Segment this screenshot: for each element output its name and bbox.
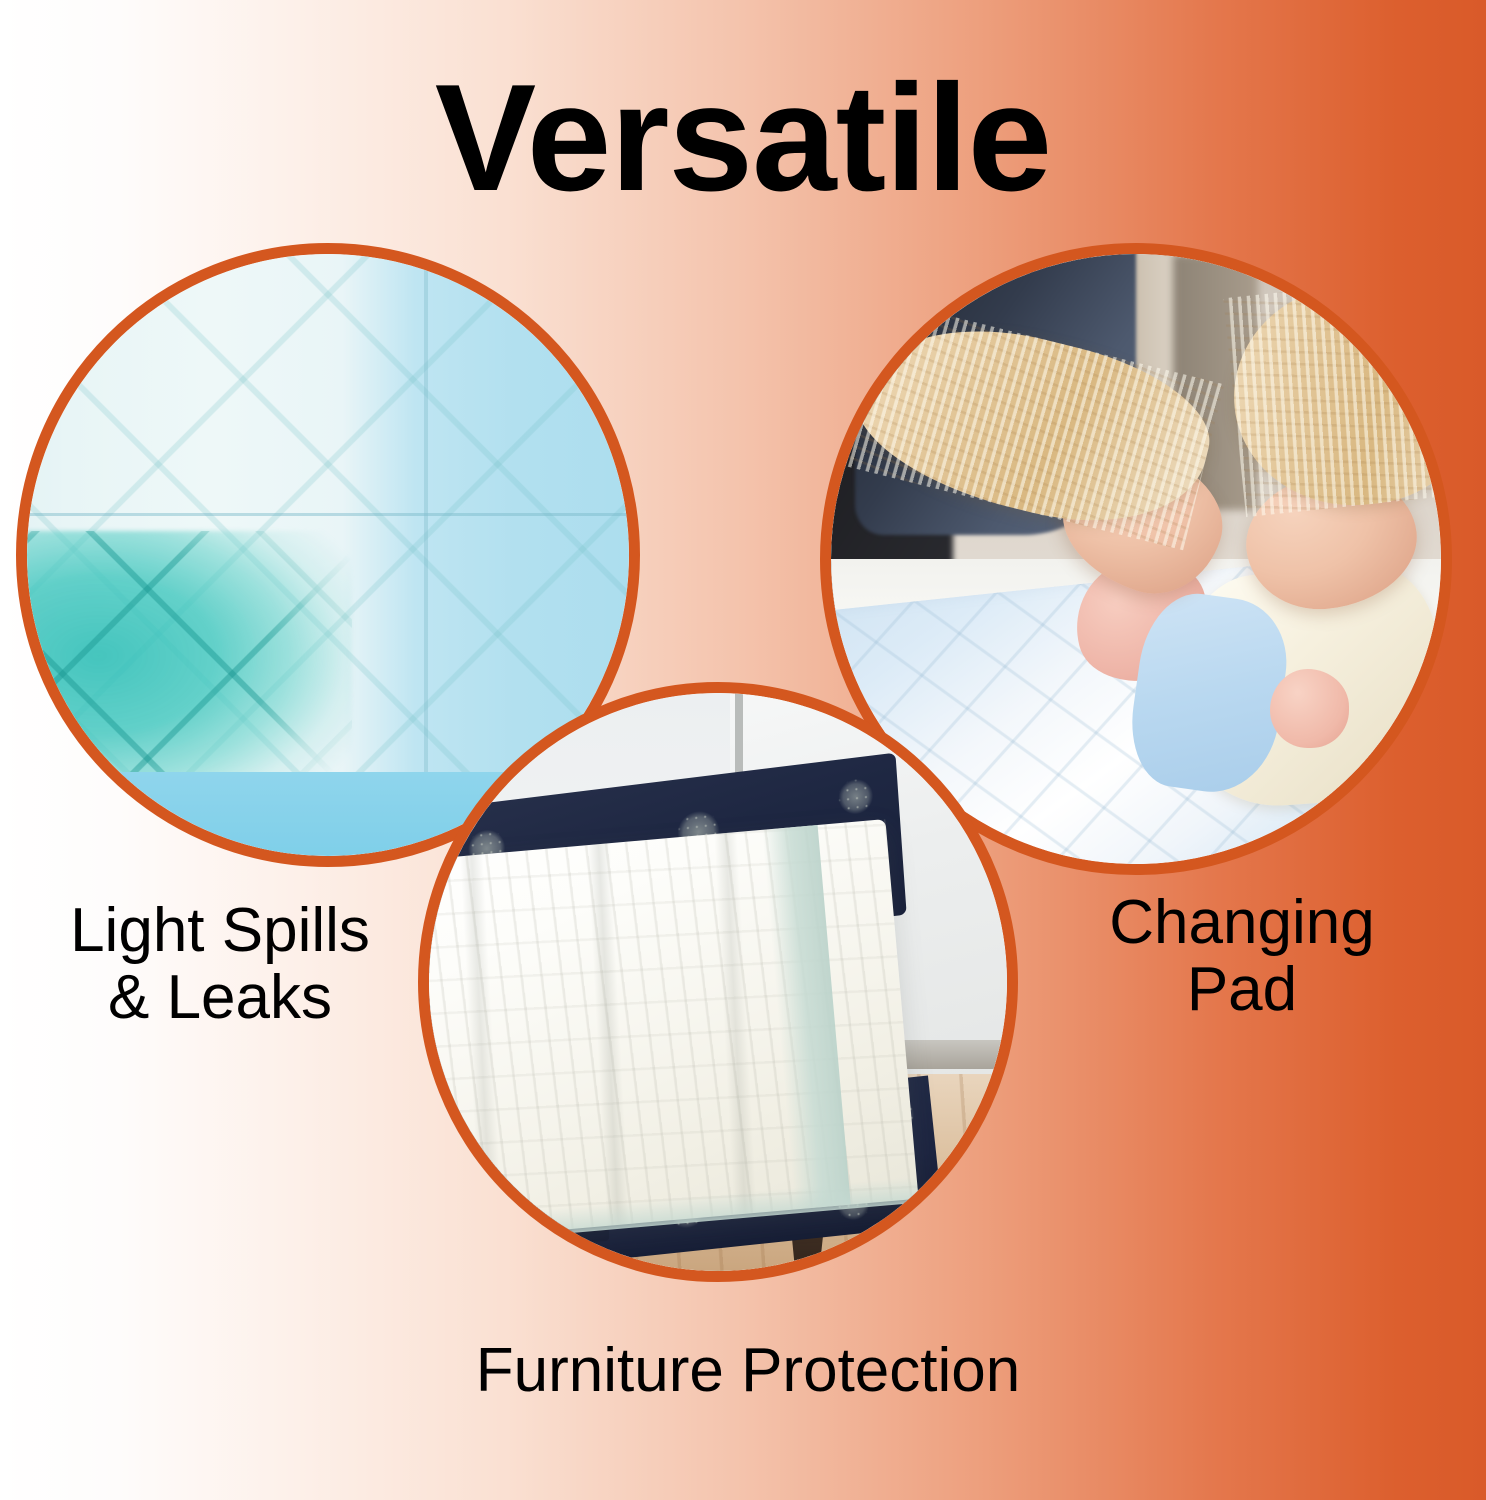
feature-image-furniture-protection xyxy=(418,682,1018,1282)
underpad-draped-on-chair xyxy=(429,819,919,1248)
underpad-fold-line xyxy=(27,513,629,516)
feature-label-changing-pad: Changing Pad xyxy=(1042,890,1442,1024)
knit-sweater-sleeve-right xyxy=(1223,272,1441,516)
liquid-stain-quilting xyxy=(27,531,352,808)
knit-texture xyxy=(1223,272,1441,516)
feature-label-light-spills-leaks: Light Spills & Leaks xyxy=(20,898,420,1032)
feature-label-furniture-protection: Furniture Protection xyxy=(348,1338,1148,1405)
underpad-vertical-fold xyxy=(424,254,428,856)
page-title: Versatile xyxy=(0,62,1486,214)
baby-foot xyxy=(1270,669,1349,748)
versatile-infographic: Versatile xyxy=(0,0,1486,1500)
furniture-protection-photo xyxy=(429,693,1007,1271)
